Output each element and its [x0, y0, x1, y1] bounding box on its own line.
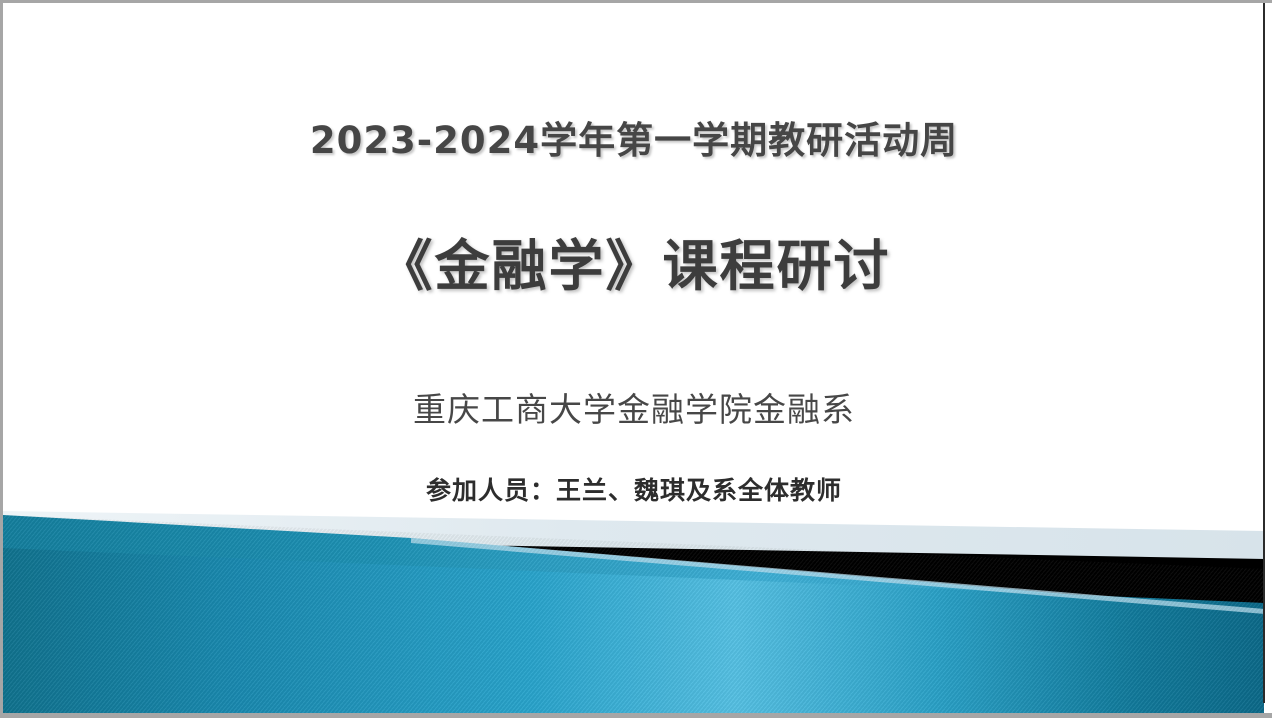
teal-upper-wedge: [3, 515, 1265, 715]
slide-frame: 2023-2024学年第一学期教研活动周 《金融学》课程研讨 重庆工商大学金融学…: [0, 0, 1272, 718]
organization-line: 重庆工商大学金融学院金融系: [3, 383, 1265, 431]
pale-blue-wedge: [3, 511, 1265, 563]
black-wedge: [3, 537, 1265, 613]
page-title: 《金融学》课程研讨: [3, 221, 1265, 301]
attendees-line: 参加人员：王兰、魏琪及系全体教师: [3, 471, 1265, 507]
slide-canvas: 2023-2024学年第一学期教研活动周 《金融学》课程研讨 重庆工商大学金融学…: [3, 3, 1265, 715]
frame-edge-right: [1264, 0, 1272, 718]
teal-edge-highlight: [411, 538, 1265, 614]
frame-edge-top: [0, 0, 1272, 3]
teal-lower-wedge: [3, 548, 1265, 715]
event-subtitle: 2023-2024学年第一学期教研活动周: [3, 110, 1265, 164]
frame-rule-right: [1263, 3, 1265, 703]
frame-edge-left: [0, 0, 3, 718]
frame-edge-bottom: [0, 713, 1272, 718]
